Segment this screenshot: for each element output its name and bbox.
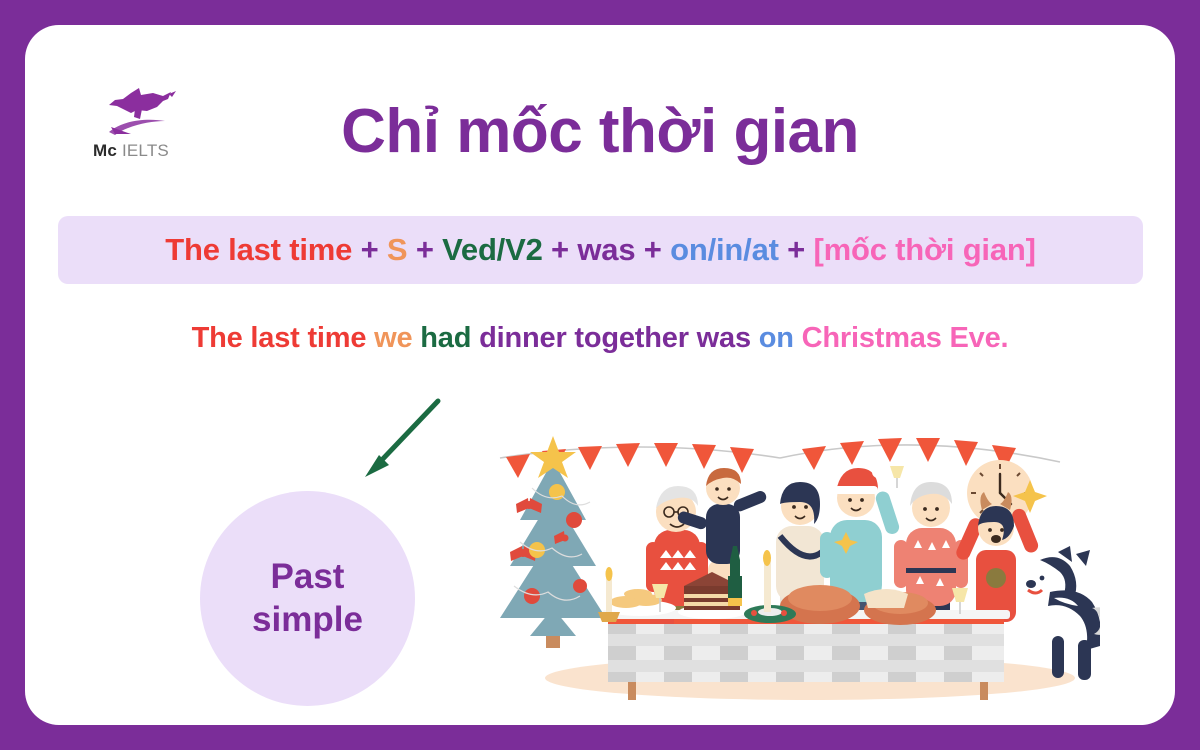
example-part-4: on: [759, 322, 794, 354]
tense-badge-line1: Past: [271, 556, 345, 599]
example-part-2: had: [420, 322, 471, 354]
tense-badge-line2: simple: [252, 599, 363, 642]
christmas-family-dinner-illustration: [480, 400, 1100, 700]
dog: [1026, 546, 1100, 680]
formula-text: The last time + S + Ved/V2 + was + on/in…: [165, 232, 1036, 268]
formula-part-3: +: [416, 232, 434, 267]
example-part-0: The last time: [192, 322, 367, 354]
formula-part-5: +: [551, 232, 569, 267]
formula-part-10: [mốc thời gian]: [814, 232, 1036, 267]
formula-part-1: +: [361, 232, 379, 267]
formula-part-0: The last time: [165, 232, 352, 267]
formula-bar: The last time + S + Ved/V2 + was + on/in…: [58, 216, 1143, 284]
formula-part-6: was: [577, 232, 635, 267]
formula-part-8: on/in/at: [670, 232, 779, 267]
formula-part-2: S: [387, 232, 407, 267]
page-title: Chỉ mốc thời gian: [25, 99, 1175, 164]
example-part-3: dinner together was: [479, 322, 751, 354]
outer-purple-frame: Mc IELTS Chỉ mốc thời gian The last time…: [0, 0, 1200, 750]
example-sentence: The last time we had dinner together was…: [25, 322, 1175, 355]
tense-badge: Past simple: [200, 491, 415, 706]
example-part-1: we: [374, 322, 412, 354]
down-left-arrow-icon: [343, 395, 453, 490]
example-part-5: Christmas Eve.: [802, 322, 1009, 354]
formula-part-4: Ved/V2: [442, 232, 542, 267]
formula-part-9: +: [787, 232, 805, 267]
content-card: Mc IELTS Chỉ mốc thời gian The last time…: [25, 25, 1175, 725]
formula-part-7: +: [644, 232, 662, 267]
